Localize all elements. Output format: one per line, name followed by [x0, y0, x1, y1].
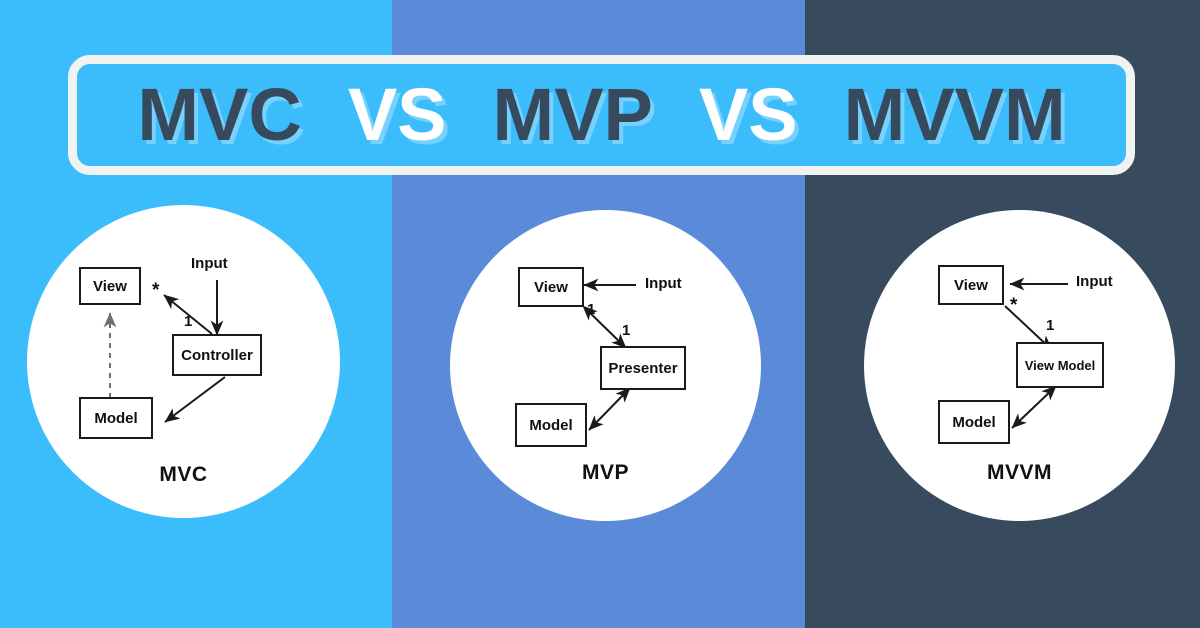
label-one-multiplicity: 1 [1046, 317, 1054, 334]
box-presenter: Presenter [600, 346, 686, 390]
label-star-multiplicity: * [152, 281, 159, 300]
title-part-mvp: MVP [493, 78, 653, 152]
label-star-multiplicity: * [1010, 296, 1017, 315]
box-controller: Controller [172, 334, 262, 376]
label-one-multiplicity-presenter: 1 [622, 322, 630, 339]
label-input: Input [645, 275, 682, 292]
poster-canvas: MVC VS MVP VS MVVM [0, 0, 1200, 628]
box-view: View [79, 267, 141, 305]
title-banner: MVC VS MVP VS MVVM [68, 55, 1135, 175]
title-part-vs-1: VS [348, 78, 447, 152]
box-model: Model [938, 400, 1010, 444]
edge-view-model-model [1012, 388, 1054, 428]
diagram-caption-mvc: MVC [27, 463, 340, 487]
diagram-caption-mvp: MVP [450, 461, 761, 485]
label-input: Input [191, 255, 228, 272]
box-view-model: View Model [1016, 342, 1104, 388]
edge-controller-to-model [165, 377, 225, 422]
diagram-caption-mvvm: MVVM [864, 461, 1175, 485]
box-view: View [938, 265, 1004, 305]
title-banner-inner: MVC VS MVP VS MVVM [77, 64, 1126, 166]
edge-presenter-model [589, 390, 628, 430]
box-model: Model [515, 403, 587, 447]
title-part-vs-2: VS [699, 78, 798, 152]
label-one-multiplicity: 1 [184, 313, 192, 330]
label-one-multiplicity-view: 1 [587, 301, 595, 318]
title-part-mvvm: MVVM [844, 78, 1066, 152]
box-model: Model [79, 397, 153, 439]
title-part-mvc: MVC [137, 78, 301, 152]
box-view: View [518, 267, 584, 307]
label-input: Input [1076, 273, 1113, 290]
